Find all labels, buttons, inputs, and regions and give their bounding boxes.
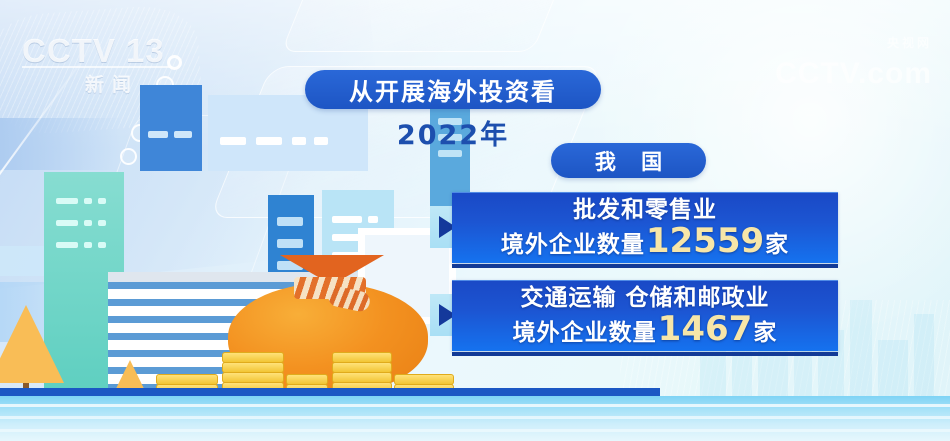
row-2-value-line: 境外企业数量 1467 家 <box>513 313 778 349</box>
row-2-unit: 家 <box>753 317 777 349</box>
row-1-underline <box>452 264 838 268</box>
row-2-underline <box>452 352 838 356</box>
row-1-category: 批发和零售业 <box>573 196 717 224</box>
row-2-metric-label: 境外企业数量 <box>513 317 657 349</box>
headline-title-text: 从开展海外投资看 <box>349 72 557 107</box>
row-2-bar: 交通运输 仓储和邮政业 境外企业数量 1467 家 <box>452 280 838 351</box>
row-1-unit: 家 <box>765 229 789 261</box>
row-2-number: 1467 <box>658 313 753 345</box>
water-reflection <box>0 396 950 441</box>
row-1-bar: 批发和零售业 境外企业数量 12559 家 <box>452 192 838 263</box>
row-1-number: 12559 <box>646 225 764 257</box>
data-row-1: 批发和零售业 境外企业数量 12559 家 <box>430 192 842 270</box>
country-pill: 我 国 <box>551 143 706 178</box>
background-hex-outline-1 <box>281 0 571 52</box>
row-1-metric-label: 境外企业数量 <box>501 229 645 261</box>
tree-left <box>0 305 64 397</box>
country-pill-text: 我 国 <box>586 146 671 176</box>
water-line-3 <box>0 429 950 432</box>
headline-pill: 从开展海外投资看 <box>305 70 601 109</box>
decor-dot-1 <box>167 55 182 70</box>
data-row-2: 交通运输 仓储和邮政业 境外企业数量 1467 家 <box>430 280 842 358</box>
row-1-value-line: 境外企业数量 12559 家 <box>501 225 789 261</box>
building-far-blue <box>140 85 202 171</box>
water-line-2 <box>0 416 950 419</box>
coin-stack-2 <box>222 353 284 393</box>
broadcast-graphic-slide: CCTV13 新闻 央视网 CCTV.com <box>0 0 950 441</box>
water-line-1 <box>0 404 950 407</box>
money-bag-illustration <box>228 255 448 405</box>
row-2-category: 交通运输 仓储和邮政业 <box>520 284 769 312</box>
coin-stack-4 <box>332 353 392 393</box>
